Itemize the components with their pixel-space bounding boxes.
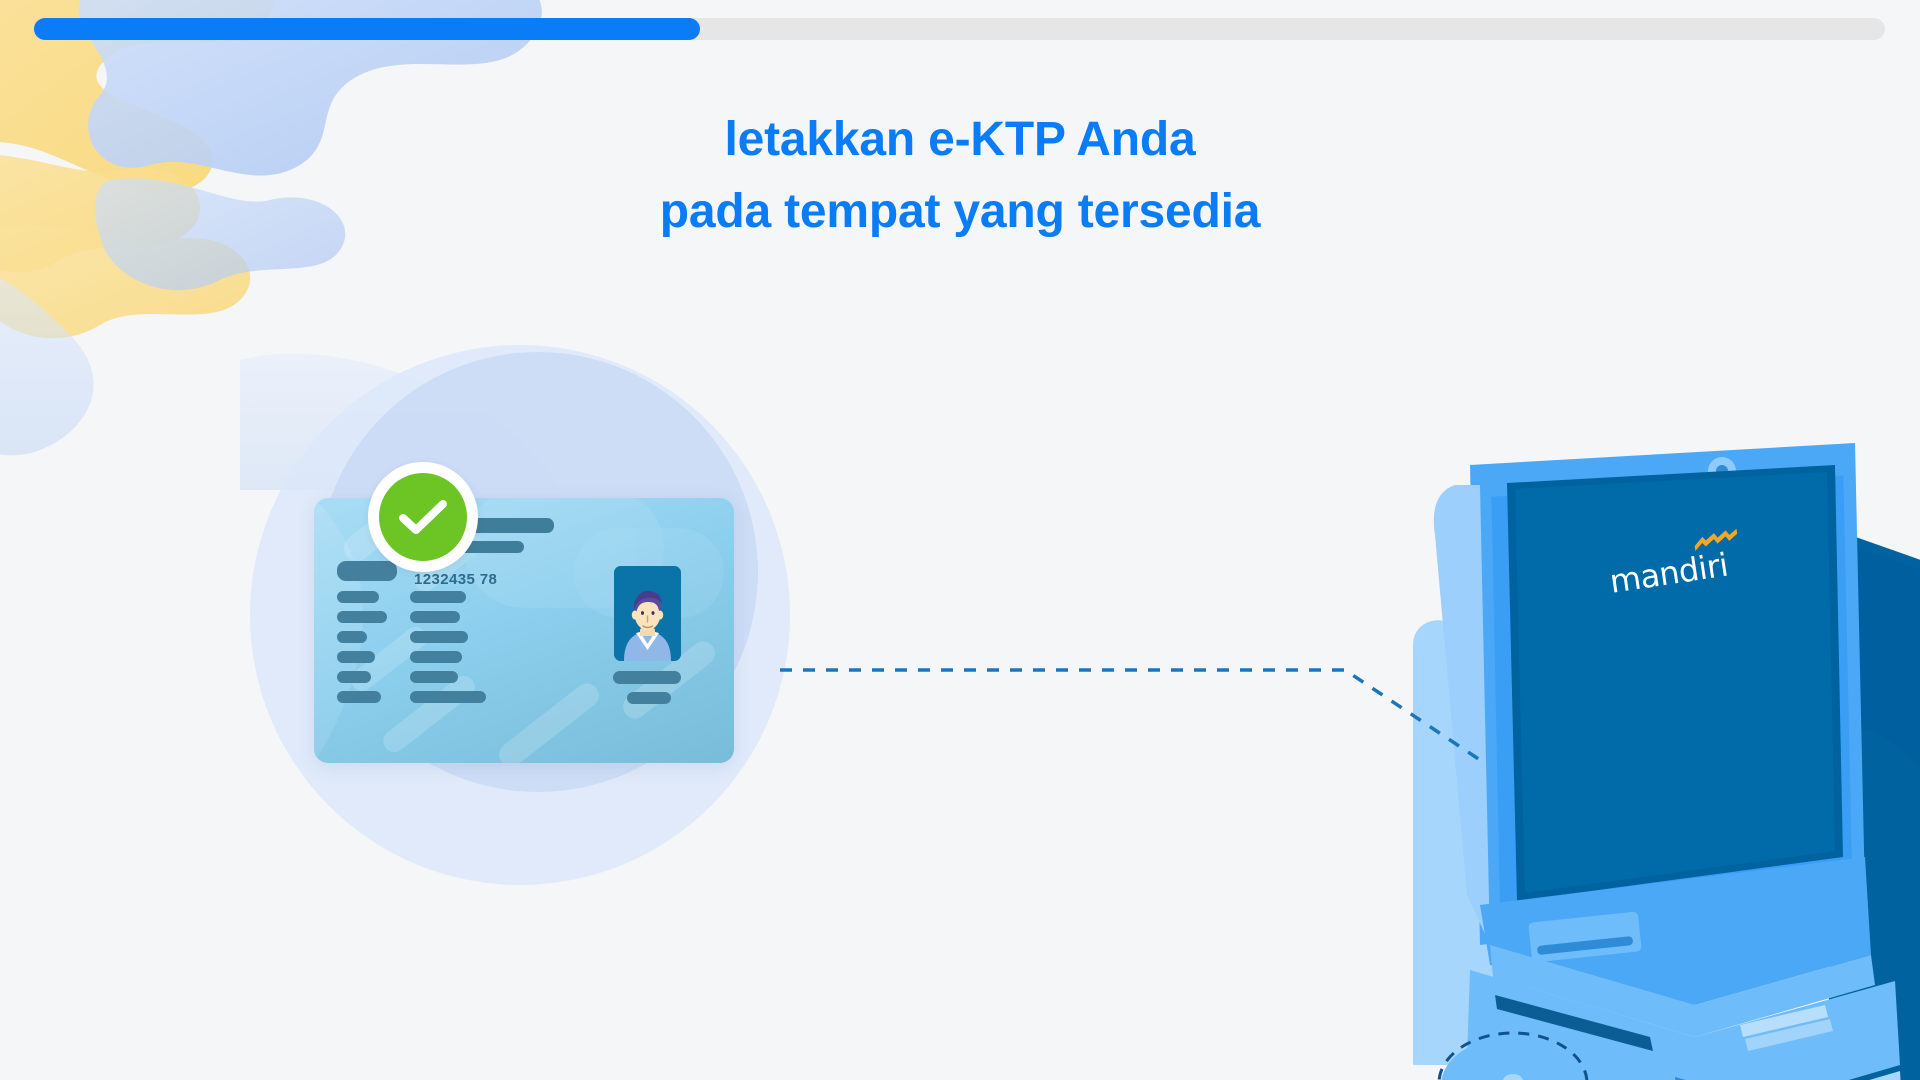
check-glyph	[398, 497, 448, 537]
card-field-line	[337, 671, 371, 683]
card-field-line	[337, 651, 375, 663]
page-title: letakkan e-KTP Anda pada tempat yang ter…	[0, 104, 1920, 248]
card-field-line	[337, 631, 367, 643]
card-nik-number: 1232435 78	[414, 571, 497, 588]
guide-connector-line	[780, 600, 1500, 760]
card-portrait-photo	[614, 566, 681, 661]
onboarding-screen: letakkan e-KTP Anda pada tempat yang ter…	[0, 0, 1920, 1080]
card-label-chip	[337, 561, 397, 581]
portrait-illustration	[614, 566, 681, 661]
card-value-line	[410, 651, 462, 663]
card-value-line	[410, 691, 486, 703]
progress-bar-fill	[34, 18, 700, 40]
check-icon	[379, 473, 467, 561]
card-value-line	[410, 611, 460, 623]
card-value-line	[410, 591, 466, 603]
page-title-line-1: letakkan e-KTP Anda	[0, 104, 1920, 176]
page-title-line-2: pada tempat yang tersedia	[0, 176, 1920, 248]
card-name-line	[627, 692, 671, 704]
card-field-line	[337, 611, 387, 623]
step-progress-bar	[34, 18, 1885, 40]
verified-badge	[368, 462, 478, 572]
card-field-line	[337, 691, 381, 703]
card-value-line	[410, 671, 458, 683]
card-value-line	[410, 631, 468, 643]
card-field-line	[337, 591, 379, 603]
card-signature-line	[613, 671, 681, 684]
